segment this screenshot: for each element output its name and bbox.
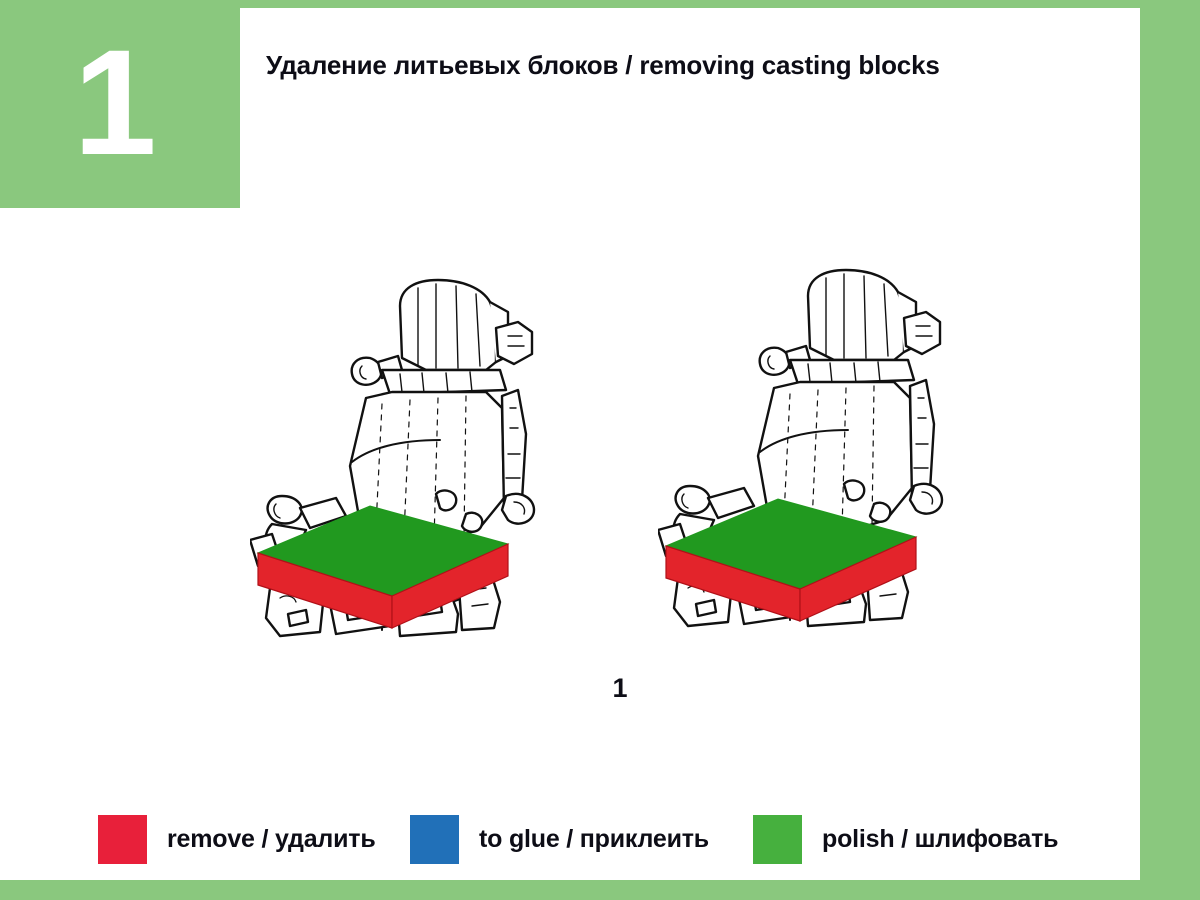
- page-title: Удаление литьевых блоков / removing cast…: [266, 50, 940, 81]
- step-number-label: 1: [73, 27, 154, 177]
- legend-item-glue: to glue / приклеить: [410, 814, 709, 864]
- legend-item-remove: remove / удалить: [98, 814, 376, 864]
- figure-ejection-seat-left: [250, 258, 590, 658]
- illustration-area: [240, 258, 1000, 658]
- legend: remove / удалить to glue / приклеить pol…: [98, 814, 1098, 864]
- figure-ejection-seat-right: [658, 248, 998, 648]
- instruction-sheet-page: 1 Удаление литьевых блоков / removing ca…: [0, 0, 1200, 900]
- legend-swatch-green: [753, 815, 802, 864]
- legend-item-polish: polish / шлифовать: [753, 814, 1058, 864]
- legend-label-polish: polish / шлифовать: [822, 825, 1058, 854]
- legend-label-glue: to glue / приклеить: [479, 825, 709, 854]
- legend-swatch-blue: [410, 815, 459, 864]
- white-content-panel: 1 Удаление литьевых блоков / removing ca…: [0, 8, 1140, 880]
- legend-swatch-red: [98, 815, 147, 864]
- ejection-seat-line-drawing: [250, 258, 590, 658]
- step-number-badge: 1: [0, 8, 240, 208]
- figure-caption-number: 1: [240, 673, 1000, 704]
- legend-label-remove: remove / удалить: [167, 825, 376, 854]
- ejection-seat-line-drawing: [658, 248, 998, 648]
